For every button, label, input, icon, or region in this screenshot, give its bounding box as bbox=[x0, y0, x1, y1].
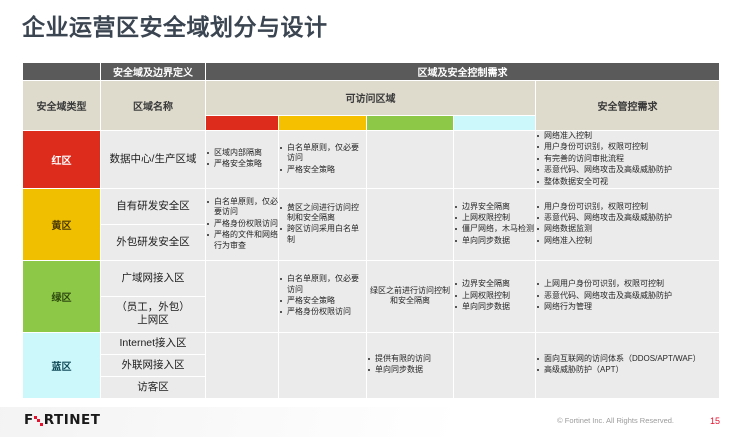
cyan-swatch bbox=[454, 115, 536, 130]
copyright-text: © Fortinet Inc. All Rights Reserved. bbox=[557, 416, 674, 425]
access-yellow-cell: 白名单原则，仅必要访问严格安全策略严格身份权限访问 bbox=[279, 260, 367, 332]
security-control-cell: 面向互联网的访问体系（DDOS/APT/WAF）高级威胁防护（APT） bbox=[536, 332, 720, 398]
access-green-list: 提供有限的访问单向同步数据 bbox=[367, 354, 453, 376]
slide-footer: FRTINET © Fortinet Inc. All Rights Reser… bbox=[0, 405, 740, 437]
access-cyan-cell bbox=[454, 131, 536, 189]
table-row: 绿区广域网接入区白名单原则，仅必要访问严格安全策略严格身份权限访问绿区之前进行访… bbox=[23, 260, 720, 296]
list-item: 严格的文件和网络行为审查 bbox=[206, 230, 278, 251]
security-control-list: 上网用户身份可识别，权限可控制恶意代码、网络攻击及高级威胁防护网络行为管理 bbox=[536, 279, 719, 312]
fortinet-logo: FRTINET bbox=[24, 412, 100, 428]
list-item: 上网权限控制 bbox=[454, 213, 535, 223]
access-red-cell bbox=[206, 260, 279, 332]
column-header-zone-type: 安全域类型 bbox=[23, 81, 101, 131]
list-item: 网络准入控制 bbox=[536, 131, 719, 141]
access-green-cell bbox=[367, 188, 454, 260]
security-zone-table: 安全域及边界定义区域及安全控制需求安全域类型区域名称可访问区域安全管控需求红区数… bbox=[22, 62, 720, 399]
security-control-cell: 用户身份可识别，权限可控制恶意代码、网络攻击及高级威胁防护网络数据监测网络准入控… bbox=[536, 188, 720, 260]
page-number: 15 bbox=[710, 416, 720, 426]
security-control-cell: 网络准入控制用户身份可识别，权限可控制有完善的访问审批流程恶意代码、网络攻击及高… bbox=[536, 131, 720, 189]
zone-name-cell: 自有研发安全区 bbox=[101, 188, 206, 224]
access-yellow-cell bbox=[279, 332, 367, 398]
list-item: 整体数据安全可视 bbox=[536, 177, 719, 187]
list-item: 恶意代码、网络攻击及高级威胁防护 bbox=[536, 291, 719, 301]
list-item: 用户身份可识别，权限可控制 bbox=[536, 142, 719, 152]
list-item: 单向同步数据 bbox=[367, 365, 453, 375]
red-swatch bbox=[206, 115, 279, 130]
list-item: 严格安全策略 bbox=[206, 159, 278, 169]
table-column-header-row: 安全域类型区域名称可访问区域安全管控需求 bbox=[23, 81, 720, 116]
group-header-zone-definition: 安全域及边界定义 bbox=[101, 63, 206, 81]
list-item: 严格安全策略 bbox=[279, 296, 366, 306]
list-item: 恶意代码、网络攻击及高级威胁防护 bbox=[536, 213, 719, 223]
access-red-cell bbox=[206, 332, 279, 398]
table-row: 黄区自有研发安全区白名单原则，仅必要访问严格身份权限访问严格的文件和网络行为审查… bbox=[23, 188, 720, 224]
list-item: 提供有限的访问 bbox=[367, 354, 453, 364]
list-item: 区域内部隔离 bbox=[206, 148, 278, 158]
list-item: 高级威胁防护（APT） bbox=[536, 365, 719, 375]
zone-type-cell: 蓝区 bbox=[23, 332, 101, 398]
column-header-zone-name: 区域名称 bbox=[101, 81, 206, 131]
list-item: 跨区访问采用白名单制 bbox=[279, 224, 366, 245]
yellow-swatch bbox=[279, 115, 367, 130]
list-item: 严格身份权限访问 bbox=[206, 219, 278, 229]
list-item: 僵尸网络，木马检测 bbox=[454, 224, 535, 234]
list-item: 恶意代码、网络攻击及高级威胁防护 bbox=[536, 165, 719, 175]
zone-name-cell: 访客区 bbox=[101, 376, 206, 398]
list-item: 有完善的访问审批流程 bbox=[536, 154, 719, 164]
list-item: 单向同步数据 bbox=[454, 236, 535, 246]
header-spacer bbox=[23, 63, 101, 81]
security-control-cell: 上网用户身份可识别，权限可控制恶意代码、网络攻击及高级威胁防护网络行为管理 bbox=[536, 260, 720, 332]
list-item: 网络数据监测 bbox=[536, 224, 719, 234]
list-item: 绿区之前进行访问控制和安全隔离 bbox=[367, 286, 453, 307]
table-row: 蓝区Internet接入区提供有限的访问单向同步数据面向互联网的访问体系（DDO… bbox=[23, 332, 720, 354]
access-green-cell bbox=[367, 131, 454, 189]
table-row: 红区数据中心/生产区域区域内部隔离严格安全策略白名单原则，仅必要访问严格安全策略… bbox=[23, 131, 720, 189]
access-green-cell: 提供有限的访问单向同步数据 bbox=[367, 332, 454, 398]
column-header-security-control: 安全管控需求 bbox=[536, 81, 720, 131]
access-yellow-list: 白名单原则，仅必要访问严格安全策略 bbox=[279, 143, 366, 175]
page-title: 企业运营区安全域划分与设计 bbox=[22, 8, 328, 42]
list-item: 白名单原则，仅必要访问 bbox=[206, 197, 278, 218]
access-cyan-cell: 边界安全隔离上网权限控制僵尸网络，木马检测单向同步数据 bbox=[454, 188, 536, 260]
security-control-list: 面向互联网的访问体系（DDOS/APT/WAF）高级威胁防护（APT） bbox=[536, 354, 719, 376]
zone-type-cell: 红区 bbox=[23, 131, 101, 189]
list-item: 白名单原则，仅必要访问 bbox=[279, 274, 366, 295]
zone-name-cell: 外联网接入区 bbox=[101, 354, 206, 376]
access-green-cell: 绿区之前进行访问控制和安全隔离 bbox=[367, 260, 454, 332]
security-control-list: 用户身份可识别，权限可控制恶意代码、网络攻击及高级威胁防护网络数据监测网络准入控… bbox=[536, 202, 719, 247]
access-red-cell: 区域内部隔离严格安全策略 bbox=[206, 131, 279, 189]
list-item: 严格身份权限访问 bbox=[279, 307, 366, 317]
logo-dot-grid-icon bbox=[34, 416, 43, 426]
slide-canvas: 企业运营区安全域划分与设计 安全域及边界定义区域及安全控制需求安全域类型区域名称… bbox=[0, 0, 740, 437]
access-yellow-cell: 黄区之间进行访问控制和安全隔离跨区访问采用白名单制 bbox=[279, 188, 367, 260]
zone-name-cell: 广域网接入区 bbox=[101, 260, 206, 296]
list-item: 边界安全隔离 bbox=[454, 279, 535, 289]
zone-name-cell: 外包研发安全区 bbox=[101, 224, 206, 260]
list-item: 严格安全策略 bbox=[279, 165, 366, 175]
security-zone-table-container: 安全域及边界定义区域及安全控制需求安全域类型区域名称可访问区域安全管控需求红区数… bbox=[22, 62, 719, 399]
table-group-header-row: 安全域及边界定义区域及安全控制需求 bbox=[23, 63, 720, 81]
list-item: 上网权限控制 bbox=[454, 291, 535, 301]
column-header-accessible-zones: 可访问区域 bbox=[206, 81, 536, 116]
zone-name-cell: 数据中心/生产区域 bbox=[101, 131, 206, 189]
access-green-list: 绿区之前进行访问控制和安全隔离 bbox=[367, 286, 453, 307]
logo-text-suffix: RTINET bbox=[44, 412, 101, 428]
list-item: 用户身份可识别，权限可控制 bbox=[536, 202, 719, 212]
access-red-cell: 白名单原则，仅必要访问严格身份权限访问严格的文件和网络行为审查 bbox=[206, 188, 279, 260]
zone-type-cell: 黄区 bbox=[23, 188, 101, 260]
access-yellow-list: 白名单原则，仅必要访问严格安全策略严格身份权限访问 bbox=[279, 274, 366, 318]
access-yellow-cell: 白名单原则，仅必要访问严格安全策略 bbox=[279, 131, 367, 189]
zone-name-cell: （员工，外包）上网区 bbox=[101, 296, 206, 332]
list-item: 白名单原则，仅必要访问 bbox=[279, 143, 366, 164]
group-header-control-requirements: 区域及安全控制需求 bbox=[206, 63, 720, 81]
access-cyan-cell: 边界安全隔离上网权限控制单向同步数据 bbox=[454, 260, 536, 332]
access-red-list: 区域内部隔离严格安全策略 bbox=[206, 148, 278, 170]
access-cyan-cell bbox=[454, 332, 536, 398]
list-item: 单向同步数据 bbox=[454, 302, 535, 312]
zone-name-cell: Internet接入区 bbox=[101, 332, 206, 354]
access-red-list: 白名单原则，仅必要访问严格身份权限访问严格的文件和网络行为审查 bbox=[206, 197, 278, 251]
access-cyan-list: 边界安全隔离上网权限控制僵尸网络，木马检测单向同步数据 bbox=[454, 202, 535, 247]
access-cyan-list: 边界安全隔离上网权限控制单向同步数据 bbox=[454, 279, 535, 312]
list-item: 网络行为管理 bbox=[536, 302, 719, 312]
green-swatch bbox=[367, 115, 454, 130]
logo-text-prefix: F bbox=[24, 412, 34, 428]
zone-type-cell: 绿区 bbox=[23, 260, 101, 332]
security-control-list: 网络准入控制用户身份可识别，权限可控制有完善的访问审批流程恶意代码、网络攻击及高… bbox=[536, 131, 719, 187]
list-item: 面向互联网的访问体系（DDOS/APT/WAF） bbox=[536, 354, 719, 364]
list-item: 上网用户身份可识别，权限可控制 bbox=[536, 279, 719, 289]
list-item: 边界安全隔离 bbox=[454, 202, 535, 212]
list-item: 黄区之间进行访问控制和安全隔离 bbox=[279, 203, 366, 224]
list-item: 网络准入控制 bbox=[536, 236, 719, 246]
access-yellow-list: 黄区之间进行访问控制和安全隔离跨区访问采用白名单制 bbox=[279, 203, 366, 246]
